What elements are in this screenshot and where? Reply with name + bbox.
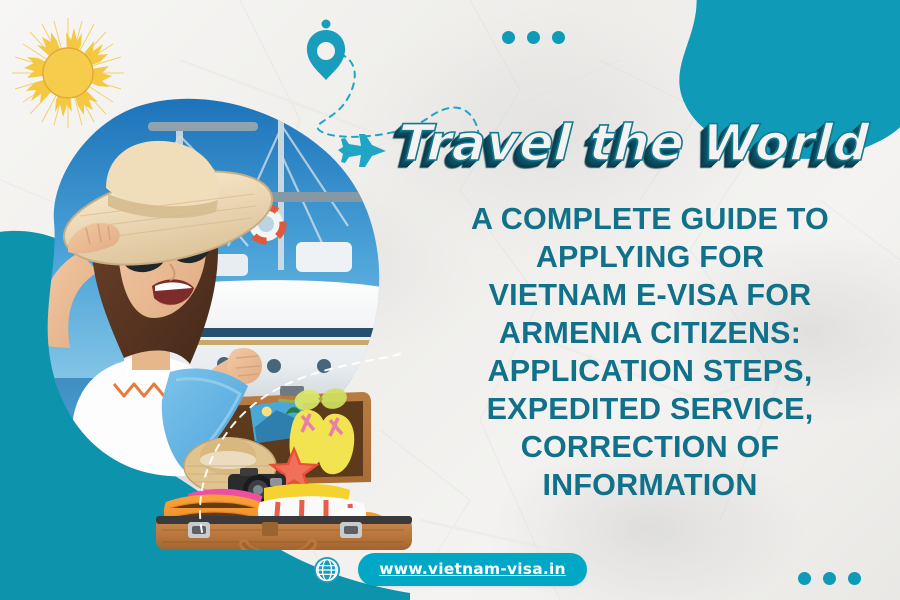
title-line: A COMPLETE GUIDE TO bbox=[440, 200, 860, 238]
dots-decoration-top bbox=[502, 31, 565, 44]
globe-icon bbox=[313, 556, 341, 584]
footer-website: www.vietnam-visa.in bbox=[0, 553, 900, 586]
title-line: APPLYING FOR bbox=[440, 238, 860, 276]
dot bbox=[502, 31, 515, 44]
location-pin-icon bbox=[307, 20, 345, 81]
title-line: APPLICATION STEPS, bbox=[440, 352, 860, 390]
dot bbox=[527, 31, 540, 44]
title-line: CORRECTION OF bbox=[440, 428, 860, 466]
title-line: VIETNAM E-VISA FOR bbox=[440, 276, 860, 314]
title-line: ARMENIA CITIZENS: bbox=[440, 314, 860, 352]
travel-banner: Travel the World A COMPLETE GUIDE TO APP… bbox=[0, 0, 900, 600]
dot bbox=[552, 31, 565, 44]
title-line: INFORMATION bbox=[440, 466, 860, 504]
dashed-arc-path bbox=[186, 352, 416, 542]
headline-travel-the-world: Travel the World bbox=[397, 118, 830, 168]
website-url-link[interactable]: www.vietnam-visa.in bbox=[358, 553, 586, 586]
title-line: EXPEDITED SERVICE, bbox=[440, 390, 860, 428]
page-title: A COMPLETE GUIDE TO APPLYING FOR VIETNAM… bbox=[440, 200, 860, 504]
